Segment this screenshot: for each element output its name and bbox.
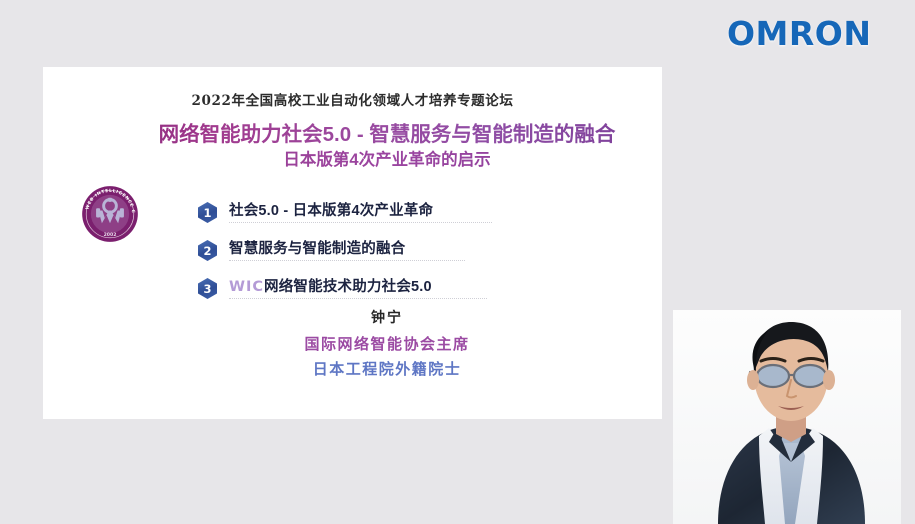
speaker-role-primary: 国际网络智能协会主席 (119, 333, 655, 354)
svg-text:2002: 2002 (104, 232, 117, 238)
slide-title-main: 网络智能助力社会5.0 - 智慧服务与智能制造的融合 (119, 122, 655, 148)
agenda-number-badge-2: 2 (198, 240, 217, 261)
presentation-slide: 2022年全国高校工业自动化领域人才培养专题论坛 (43, 67, 662, 419)
speaker-video-panel[interactable] (673, 310, 901, 524)
slide-title-block: 网络智能助力社会5.0 - 智慧服务与智能制造的融合 日本版第4次产业革命的启示 (119, 122, 655, 170)
agenda-item-2: 2 智慧服务与智能制造的融合 (198, 237, 498, 275)
agenda-divider-1 (229, 222, 492, 223)
agenda-number-badge-1: 1 (198, 202, 217, 223)
agenda-item-1: 1 社会5.0 - 日本版第4次产业革命 (198, 199, 498, 237)
screen-root: OMRON 2022年全国高校工业自动化领域人才培养专题论坛 (0, 0, 915, 524)
speaker-block: 钟宁 国际网络智能协会主席 日本工程院外籍院士 (119, 307, 655, 379)
agenda-label-1: 社会5.0 - 日本版第4次产业革命 (229, 199, 433, 220)
agenda-divider-3 (229, 298, 487, 299)
speaker-name: 钟宁 (119, 307, 655, 327)
omron-logo: OMRON (727, 14, 871, 53)
slide-title-subtitle: 日本版第4次产业革命的启示 (119, 150, 655, 171)
agenda-list: 1 社会5.0 - 日本版第4次产业革命 2 智慧服务与智能制造的融合 3 WI… (198, 199, 498, 313)
speaker-portrait (673, 310, 901, 524)
agenda-label-3: WIC网络智能技术助力社会5.0 (229, 275, 432, 296)
agenda-label-3-text: 网络智能技术助力社会5.0 (264, 279, 432, 295)
agenda-divider-2 (229, 260, 465, 261)
agenda-label-3-prefix: WIC (229, 279, 264, 295)
agenda-label-2: 智慧服务与智能制造的融合 (229, 237, 405, 258)
wic-seal-icon: WEB INTELLIGENCE CONSORTIUM 2002 (81, 185, 139, 243)
slide-header-forum-title: 2022年全国高校工业自动化领域人才培养专题论坛 (43, 89, 662, 109)
speaker-role-secondary: 日本工程院外籍院士 (119, 358, 655, 379)
agenda-number-badge-3: 3 (198, 278, 217, 299)
